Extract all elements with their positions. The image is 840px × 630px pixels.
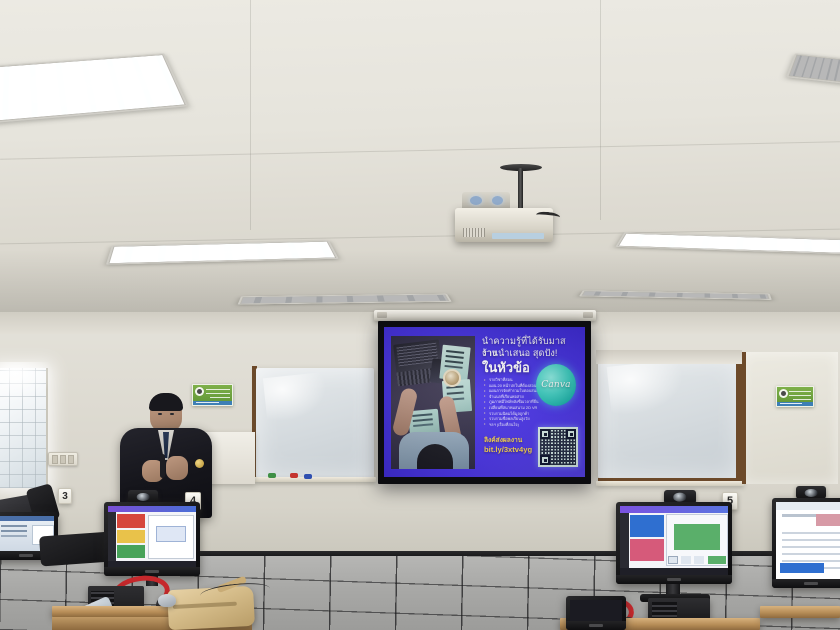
presenter-hand-right — [166, 456, 188, 480]
computer-mouse[interactable] — [158, 594, 176, 607]
whiteboard-top-rail — [596, 350, 742, 364]
monitor-station-right[interactable] — [772, 498, 840, 588]
whiteboard-marker[interactable] — [304, 474, 312, 479]
projector-label-strip — [492, 233, 544, 239]
chair-back — [39, 532, 113, 567]
presenter-lapel-pin — [195, 459, 204, 468]
green-notice-sign-icon — [192, 384, 233, 406]
monitor-foreground[interactable] — [566, 596, 626, 630]
ceiling-seam — [600, 0, 601, 220]
whiteboard-right — [598, 356, 740, 478]
ceiling-seam — [250, 0, 251, 230]
projector-mount-pole — [518, 168, 523, 212]
classroom-window — [0, 368, 48, 488]
projection-screen-housing[interactable] — [374, 310, 596, 321]
wall-panel-right — [742, 352, 838, 484]
station-number-card: 3 — [58, 488, 72, 504]
desk-far-right — [760, 606, 840, 618]
monitor-station-4[interactable] — [104, 502, 200, 576]
projector-lens-icon — [492, 196, 503, 205]
light-switch-panel[interactable] — [48, 452, 78, 466]
monitor-station-5[interactable] — [616, 502, 732, 584]
projector-vent — [463, 228, 485, 237]
green-notice-sign-icon — [776, 386, 814, 407]
whiteboard-marker[interactable] — [290, 473, 298, 478]
whiteboard-frame — [742, 352, 746, 484]
whiteboard-marker-tray — [596, 481, 744, 486]
presenter-hair — [149, 393, 183, 411]
presenter-microphone[interactable] — [160, 454, 165, 478]
projector-lens-icon — [470, 196, 482, 205]
whiteboard-left — [256, 368, 374, 478]
whiteboard-marker[interactable] — [268, 473, 276, 478]
presentation-slide: นำความรู้ที่ได้รับมาสร้าง งานนำเสนอ สุดป… — [384, 327, 585, 477]
classroom-scene: นำความรู้ที่ได้รับมาสร้าง งานนำเสนอ สุดป… — [0, 0, 840, 630]
presenter-eyes — [158, 413, 162, 415]
